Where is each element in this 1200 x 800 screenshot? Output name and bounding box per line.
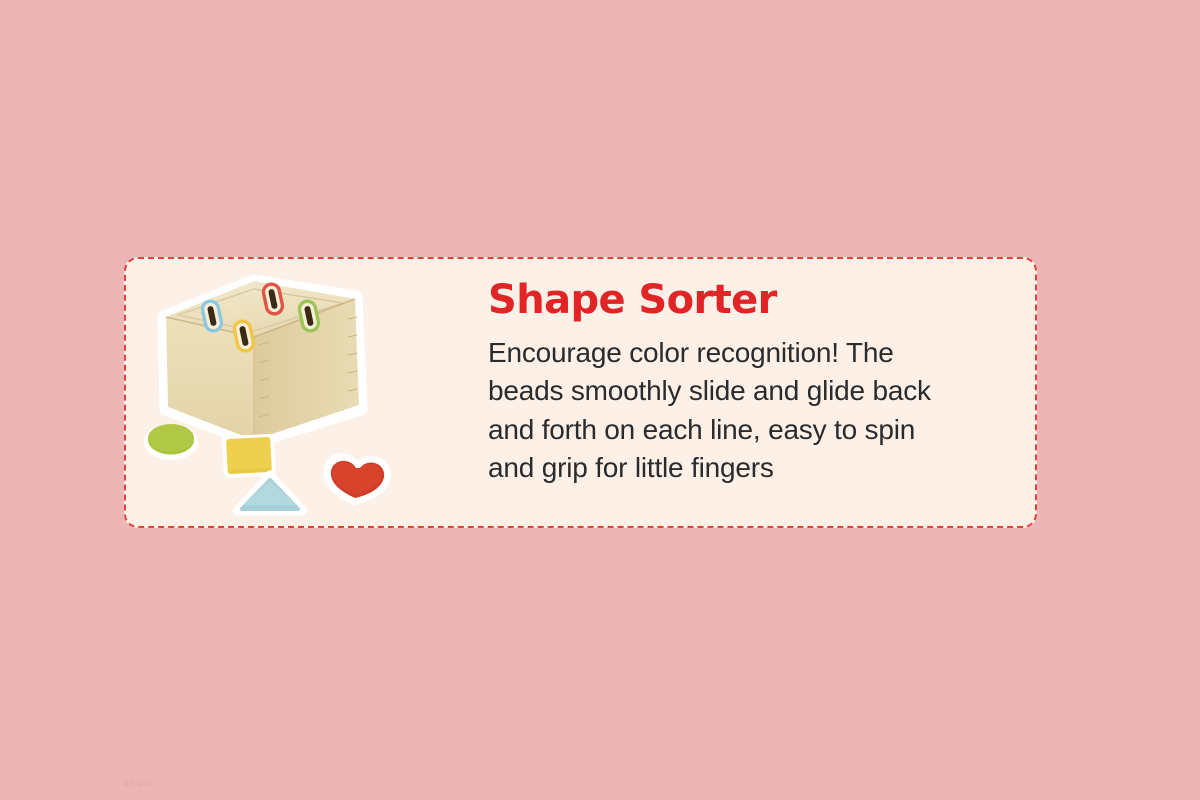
heart-red [328, 458, 386, 500]
shape-sorter-illustration [126, 259, 486, 544]
product-text-block: Shape Sorter Encourage color recognition… [486, 279, 1046, 487]
toy-figure [126, 259, 486, 530]
product-card[interactable]: Shape Sorter Encourage color recognition… [124, 257, 1037, 528]
page-watermark: dToptu [123, 778, 152, 788]
product-title: Shape Sorter [486, 279, 1046, 321]
product-description: Encourage color recognition! The beads s… [488, 334, 1048, 487]
triangle-blue [237, 475, 303, 511]
ellipse-green [144, 424, 198, 460]
